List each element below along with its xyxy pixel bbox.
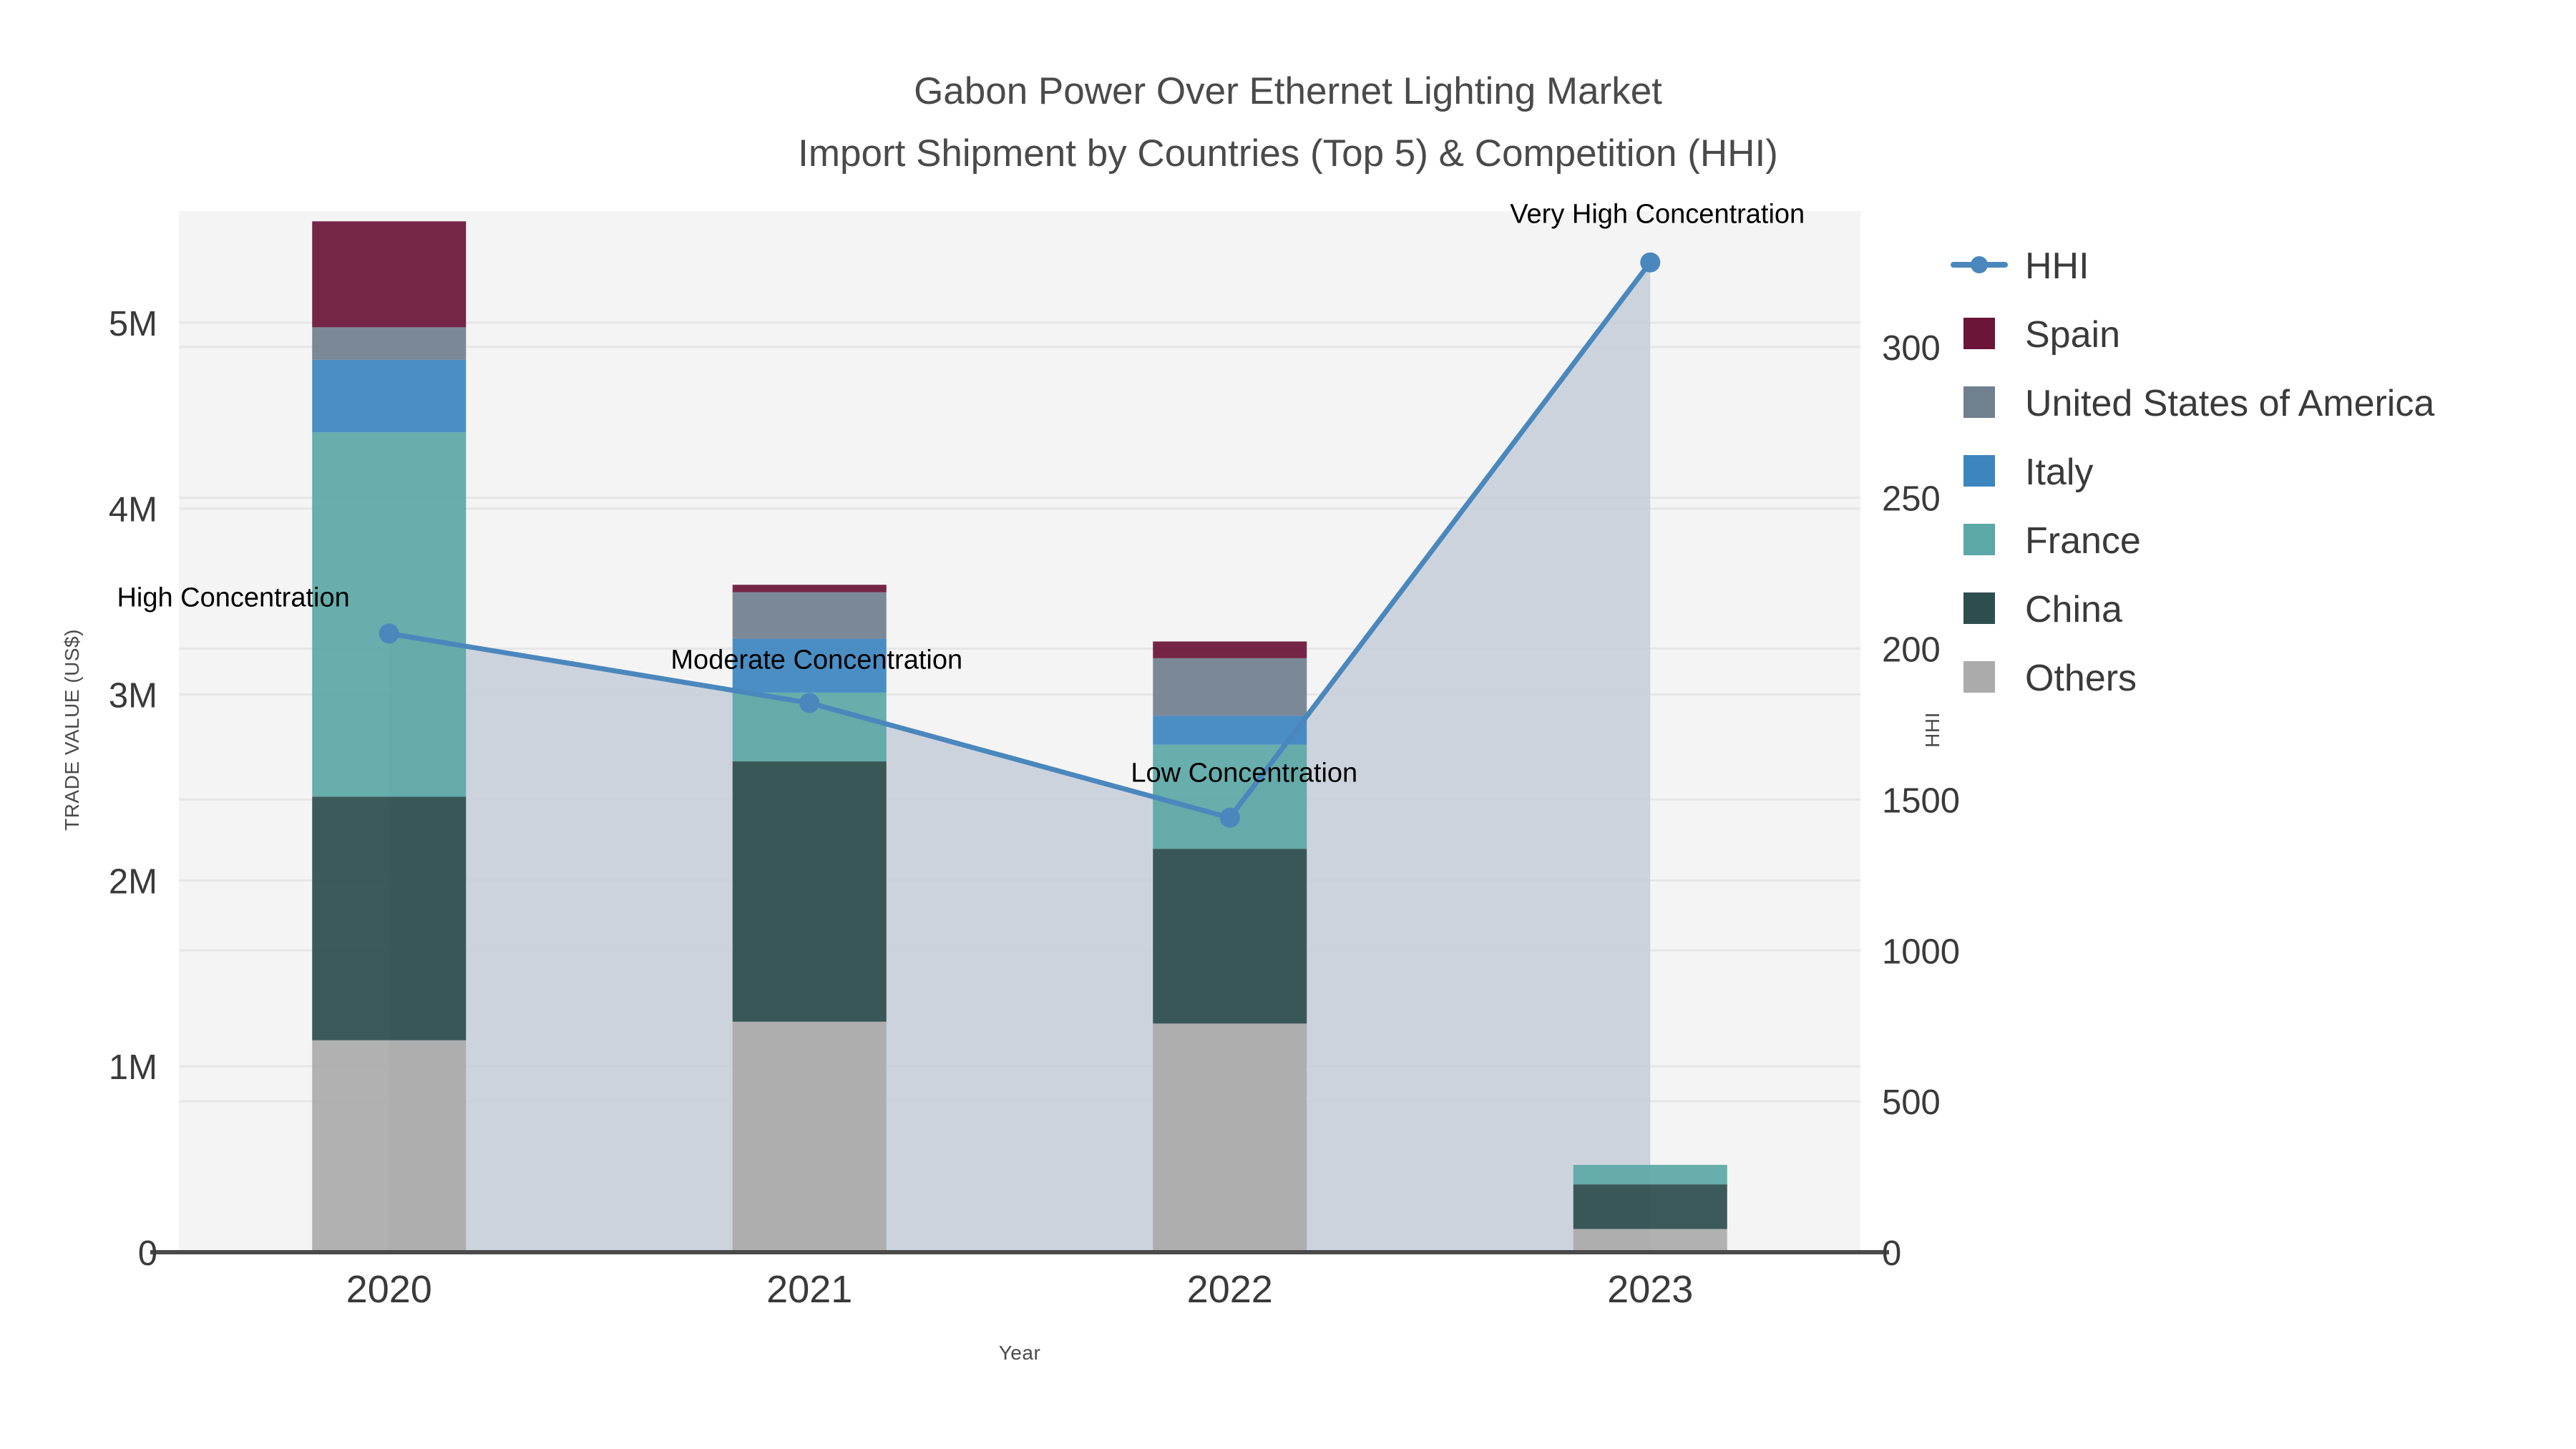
hhi-marker [379,623,399,643]
bar-group-2023 [1574,1165,1727,1252]
legend-color-swatch [1963,661,1995,693]
legend-label: Spain [2025,314,2120,356]
bar-segment [312,221,466,327]
y2-axis-title: HHI [1921,712,1943,748]
legend-label: France [2025,520,2141,562]
x-axis-title: Year [999,1342,1041,1364]
y-tick-label: 1M [109,1048,157,1087]
bar-segment [312,360,466,432]
bar-group-2020 [312,221,466,1252]
legend-color-swatch [1963,524,1995,555]
x-tick-label-2022[interactable]: 2022 [1187,1268,1273,1311]
bar-segment [1153,1023,1307,1252]
y2-tick-label: 0 [1882,1234,1901,1273]
bar-segment [733,585,887,592]
y2-tick-label: 500 [1882,1083,1941,1122]
legend-label: United States of America [2025,383,2434,424]
bar-group-2022 [1153,641,1307,1252]
bar-segment [312,327,466,359]
y-tick-label: 0 [138,1234,157,1273]
bar-segment [312,796,466,1040]
chart-container: Gabon Power Over Ethernet Lighting Marke… [0,0,2576,1449]
legend-marker-dot [1971,256,1988,273]
chart-title: Gabon Power Over Ethernet Lighting Marke… [914,70,1662,112]
bar-segment [1574,1184,1727,1229]
y-tick-label: 3M [109,677,157,716]
legend-label: HHI [2025,245,2089,287]
y2-tick-label: 250 [1882,480,1941,519]
legend-label: China [2025,589,2122,630]
bar-segment [1153,641,1307,658]
y-tick-label: 4M [109,491,157,530]
x-tick-label-2020[interactable]: 2020 [346,1268,432,1311]
annotation-label: Low Concentration [1131,758,1357,789]
bar-segment [733,592,887,639]
y-axis-title: TRADE VALUE (US$) [61,629,83,831]
x-tick-label-2023[interactable]: 2023 [1607,1268,1693,1311]
bar-segment [312,1040,466,1252]
bar-segment [1153,658,1307,716]
annotation-label: High Concentration [117,582,349,613]
legend-label: Others [2025,658,2137,699]
hhi-marker [1640,253,1660,273]
y2-tick-label: 300 [1882,329,1941,368]
legend-color-swatch [1963,592,1995,624]
x-tick-label-2021[interactable]: 2021 [766,1268,852,1311]
y2-tick-label: 1500 [1882,781,1960,820]
bar-segment [733,761,887,1022]
bar-segment [1153,716,1307,744]
hhi-marker [1220,808,1240,828]
bar-segment [1574,1165,1727,1184]
y2-tick-label: 200 [1882,631,1941,670]
hhi-marker [799,693,819,713]
legend-item-united-states-of-america[interactable]: United States of America [1963,383,2434,424]
power-over-ethernet-import-chart: Gabon Power Over Ethernet Lighting Marke… [0,0,2576,1449]
bar-group-2021 [733,585,887,1252]
legend-color-swatch [1963,455,1995,487]
bar-segment [1574,1229,1727,1252]
bar-segment [312,432,466,796]
annotation-label: Very High Concentration [1510,200,1805,230]
bar-segment [733,1022,887,1252]
legend-label: Italy [2025,452,2093,493]
legend-color-swatch [1963,318,1995,349]
legend-color-swatch [1963,386,1995,418]
y-tick-label: 2M [109,862,157,901]
y2-tick-label: 1000 [1882,932,1960,971]
y-tick-label: 5M [109,305,157,343]
chart-subtitle: Import Shipment by Countries (Top 5) & C… [798,132,1778,175]
bar-segment [1153,849,1307,1023]
annotation-label: Moderate Concentration [670,645,962,675]
